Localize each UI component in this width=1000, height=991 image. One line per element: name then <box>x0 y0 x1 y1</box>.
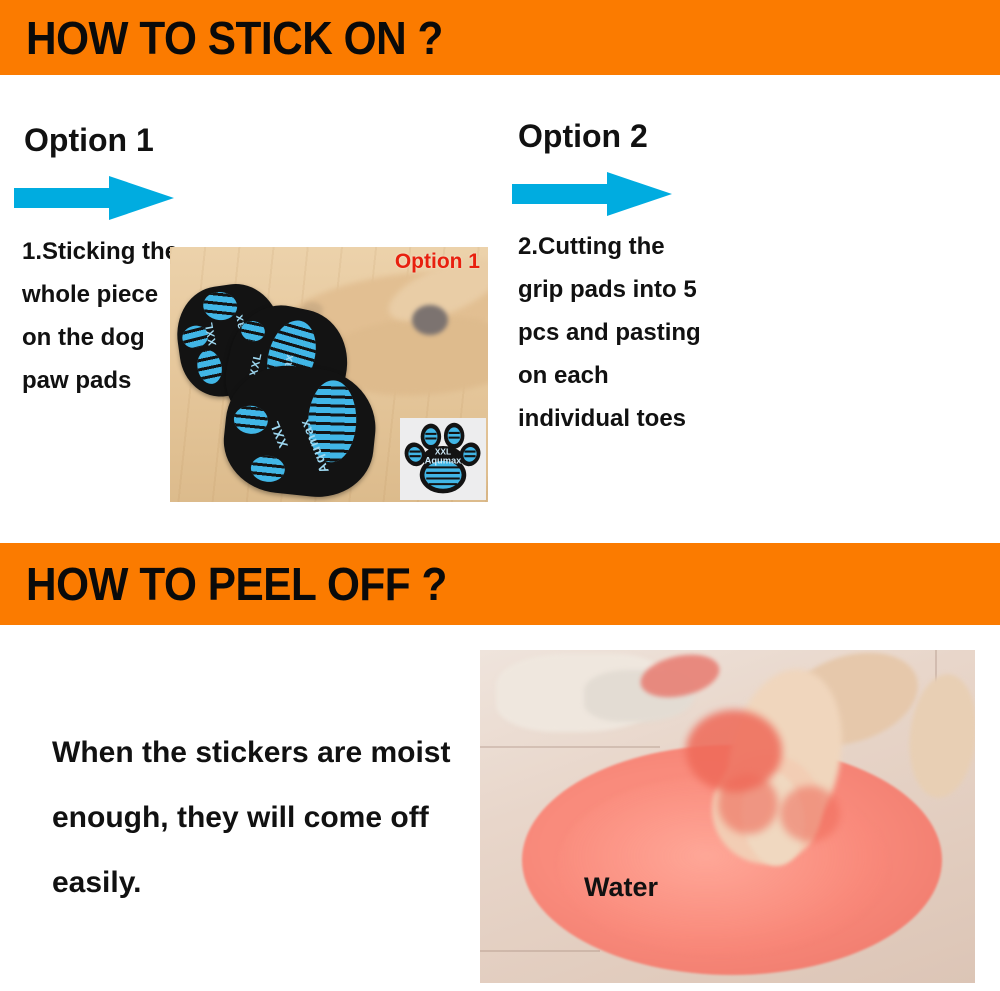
pad-stripe <box>250 454 287 483</box>
option-1-heading: Option 1 <box>24 122 154 159</box>
water-overlay-label: Water <box>584 872 658 903</box>
option-1-instruction: 1.Sticking the whole piece on the dog pa… <box>22 230 182 402</box>
svg-text:Aqumax: Aqumax <box>425 456 463 466</box>
how-to-peel-off-section: When the stickers are moist enough, they… <box>0 625 1000 991</box>
how-to-stick-on-section: Option 1 1.Sticking the whole piece on t… <box>0 75 1000 543</box>
right-arrow-icon <box>14 175 174 221</box>
dog-toe-pad <box>412 305 448 335</box>
pad-stripe <box>239 319 267 344</box>
section-banner-peel-off: HOW TO PEEL OFF ? <box>0 543 1000 625</box>
infographic-page: HOW TO STICK ON ? Option 1 1.Sticking th… <box>0 0 1000 991</box>
option-2-heading: Option 2 <box>518 118 648 155</box>
banner-title-stick-on: HOW TO STICK ON ? <box>26 11 443 65</box>
peel-off-instruction: When the stickers are moist enough, they… <box>52 720 472 915</box>
tile-grout-line <box>480 746 660 748</box>
option-1-photo-overlay-label: Option 1 <box>395 250 480 274</box>
section-banner-stick-on: HOW TO STICK ON ? <box>0 0 1000 75</box>
option-2-instruction: 2.Cutting the grip pads into 5 pcs and p… <box>518 225 703 440</box>
tile-grout-line <box>480 950 600 952</box>
pad-size-text: XXL <box>266 418 291 450</box>
paw-pad-icon: XXL Aqumax <box>403 420 483 498</box>
pad-stripe <box>233 404 270 435</box>
right-arrow-icon <box>512 171 672 217</box>
peel-off-photo: Water <box>480 650 975 983</box>
option-1-inset-image: XXL Aqumax <box>400 418 486 500</box>
pad-stripe <box>194 348 225 386</box>
option-1-photo: XXL Aqumax XXL Aqumax XXL Aqumax <box>170 247 488 502</box>
banner-title-peel-off: HOW TO PEEL OFF ? <box>26 557 447 611</box>
red-cloth-shape <box>780 786 840 842</box>
red-cloth-shape <box>718 774 778 834</box>
